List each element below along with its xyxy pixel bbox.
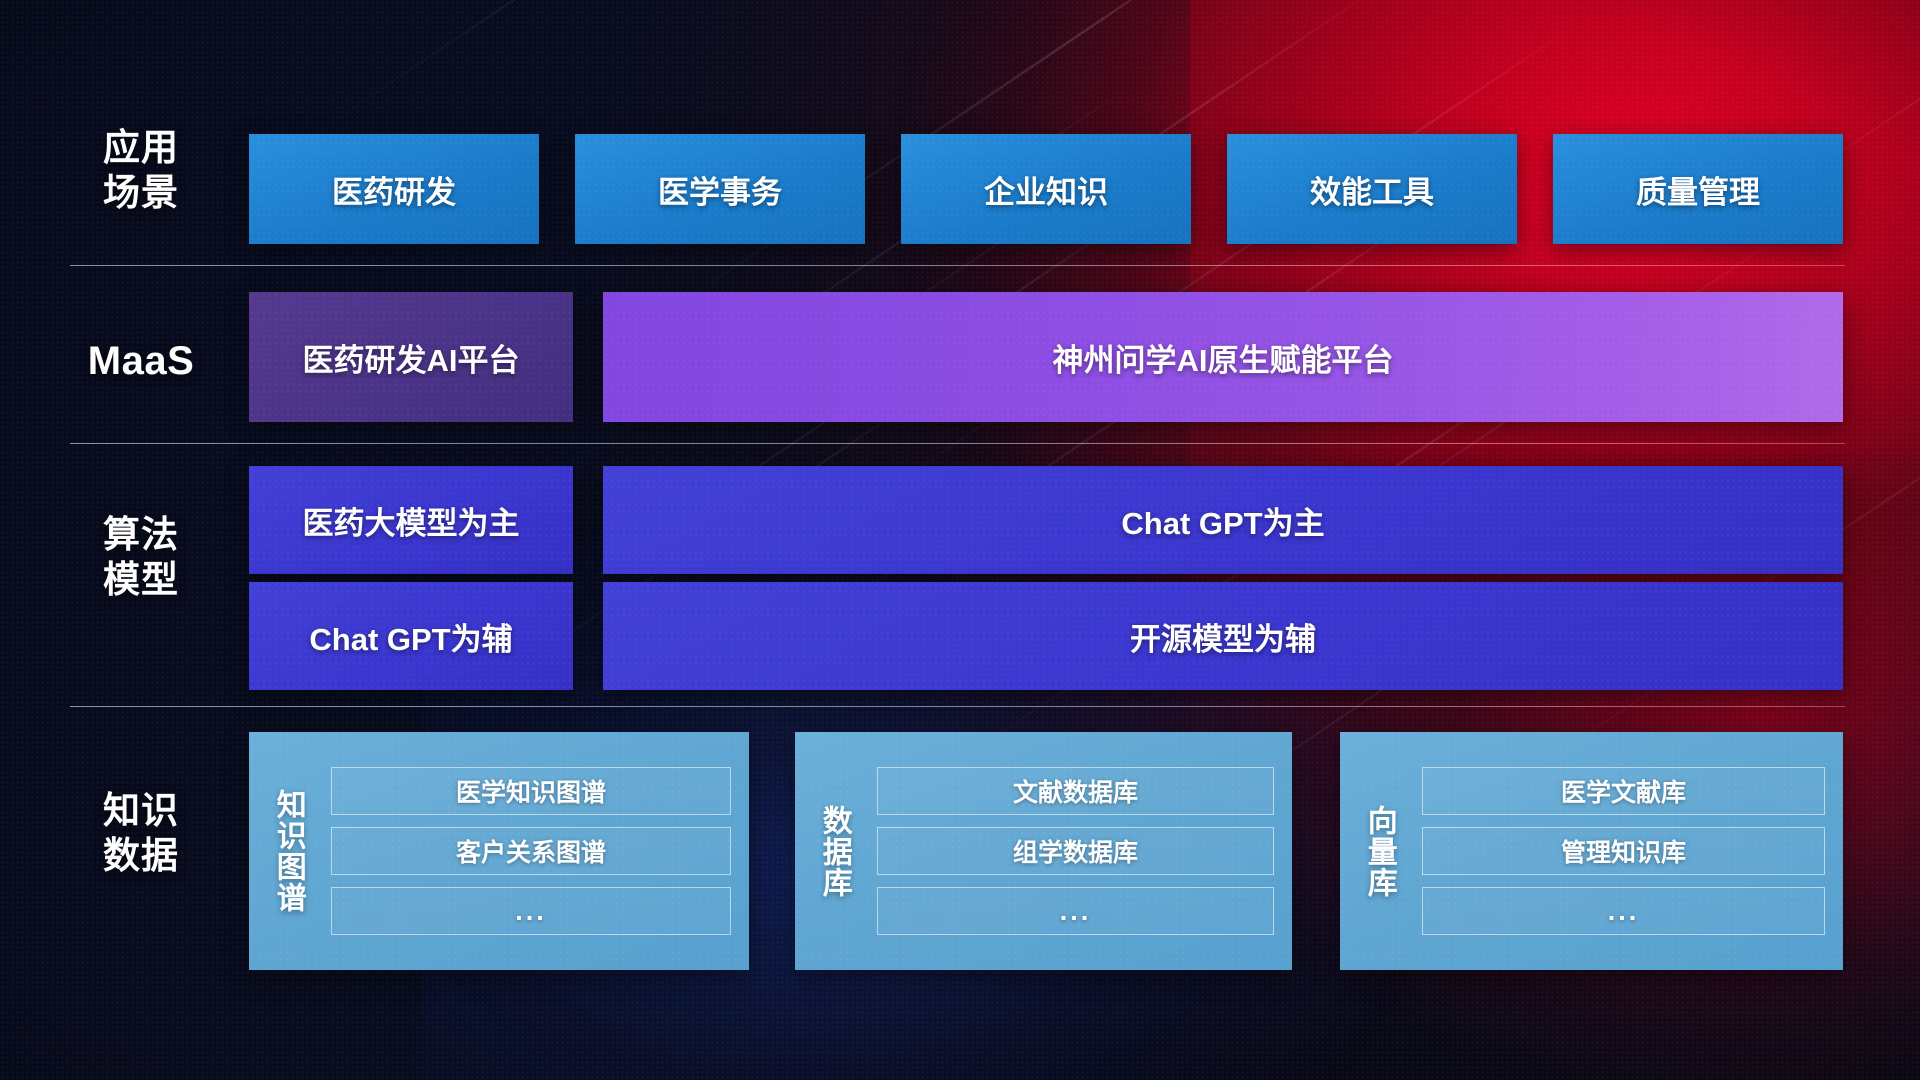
knowledge-panel-0-side-label: 知识图谱 <box>249 732 327 970</box>
app-box-3[interactable]: 效能工具 <box>1227 134 1517 244</box>
knowledge-panel-1-item-2[interactable]: ... <box>877 887 1274 935</box>
knowledge-panel-2-item-1-label: 管理知识库 <box>1561 833 1686 869</box>
maas-left-box[interactable]: 医药研发AI平台 <box>249 292 573 422</box>
row-label-algorithm-line1: 算法 <box>66 512 216 557</box>
knowledge-panel-0[interactable]: 知识图谱 医学知识图谱 客户关系图谱 ... <box>249 732 749 970</box>
knowledge-panel-1-item-1[interactable]: 组学数据库 <box>877 827 1274 875</box>
knowledge-panel-2-side-label: 向量库 <box>1340 732 1418 970</box>
divider-application-maas <box>70 265 1845 266</box>
row-label-knowledge-line2: 数据 <box>66 833 216 878</box>
knowledge-panel-0-item-1-label: 客户关系图谱 <box>456 833 606 869</box>
row-label-knowledge-line1: 知识 <box>66 788 216 833</box>
algo-left-box-1-label: Chat GPT为辅 <box>309 614 512 659</box>
knowledge-panel-2[interactable]: 向量库 医学文献库 管理知识库 ... <box>1340 732 1843 970</box>
algo-right-box-1-label: 开源模型为辅 <box>1130 614 1316 659</box>
algo-left-box-0-label: 医药大模型为主 <box>303 498 520 543</box>
app-box-1[interactable]: 医学事务 <box>575 134 865 244</box>
row-label-maas: MaaS <box>66 337 216 386</box>
algo-right-box-0[interactable]: Chat GPT为主 <box>603 466 1843 574</box>
maas-left-box-label: 医药研发AI平台 <box>303 335 520 380</box>
knowledge-panel-1-items: 文献数据库 组学数据库 ... <box>873 732 1292 970</box>
divider-maas-algorithm <box>70 443 1845 444</box>
app-box-1-label: 医学事务 <box>658 167 782 212</box>
knowledge-panel-1-item-0-label: 文献数据库 <box>1013 773 1138 809</box>
maas-right-box-label: 神州问学AI原生赋能平台 <box>1053 335 1394 380</box>
knowledge-panel-0-item-1[interactable]: 客户关系图谱 <box>331 827 731 875</box>
knowledge-panel-0-item-2[interactable]: ... <box>331 887 731 935</box>
row-label-application-scenarios: 应用 场景 <box>66 125 216 215</box>
knowledge-panel-2-item-2-label: ... <box>1608 896 1640 927</box>
app-box-4[interactable]: 质量管理 <box>1553 134 1843 244</box>
row-label-maas-text: MaaS <box>66 337 216 386</box>
algo-right-box-1[interactable]: 开源模型为辅 <box>603 582 1843 690</box>
row-label-algorithm-line2: 模型 <box>66 557 216 602</box>
architecture-diagram: 应用 场景 医药研发 医学事务 企业知识 效能工具 质量管理 MaaS 医药研发… <box>0 0 1920 1080</box>
knowledge-panel-1-side-label: 数据库 <box>795 732 873 970</box>
maas-right-box[interactable]: 神州问学AI原生赋能平台 <box>603 292 1843 422</box>
knowledge-panel-1-item-1-label: 组学数据库 <box>1013 833 1138 869</box>
knowledge-panel-0-item-2-label: ... <box>515 896 547 927</box>
knowledge-panel-2-item-0[interactable]: 医学文献库 <box>1422 767 1825 815</box>
knowledge-panel-2-item-1[interactable]: 管理知识库 <box>1422 827 1825 875</box>
algo-right-box-0-label: Chat GPT为主 <box>1121 498 1324 543</box>
knowledge-panel-0-item-0[interactable]: 医学知识图谱 <box>331 767 731 815</box>
divider-algorithm-knowledge <box>70 706 1845 707</box>
knowledge-panel-0-items: 医学知识图谱 客户关系图谱 ... <box>327 732 749 970</box>
row-label-application-line1: 应用 <box>66 125 216 170</box>
app-box-3-label: 效能工具 <box>1310 167 1434 212</box>
knowledge-panel-1[interactable]: 数据库 文献数据库 组学数据库 ... <box>795 732 1292 970</box>
knowledge-panel-2-item-2[interactable]: ... <box>1422 887 1825 935</box>
knowledge-panel-0-item-0-label: 医学知识图谱 <box>456 773 606 809</box>
knowledge-panel-2-items: 医学文献库 管理知识库 ... <box>1418 732 1843 970</box>
app-box-2-label: 企业知识 <box>984 167 1108 212</box>
row-label-knowledge-data: 知识 数据 <box>66 788 216 878</box>
app-box-0[interactable]: 医药研发 <box>249 134 539 244</box>
algo-left-box-0[interactable]: 医药大模型为主 <box>249 466 573 574</box>
app-box-4-label: 质量管理 <box>1636 167 1760 212</box>
app-box-0-label: 医药研发 <box>332 167 456 212</box>
knowledge-panel-1-item-0[interactable]: 文献数据库 <box>877 767 1274 815</box>
row-label-application-line2: 场景 <box>66 170 216 215</box>
knowledge-panel-1-item-2-label: ... <box>1060 896 1092 927</box>
knowledge-panel-2-item-0-label: 医学文献库 <box>1561 773 1686 809</box>
algo-left-box-1[interactable]: Chat GPT为辅 <box>249 582 573 690</box>
row-label-algorithm-model: 算法 模型 <box>66 512 216 602</box>
app-box-2[interactable]: 企业知识 <box>901 134 1191 244</box>
